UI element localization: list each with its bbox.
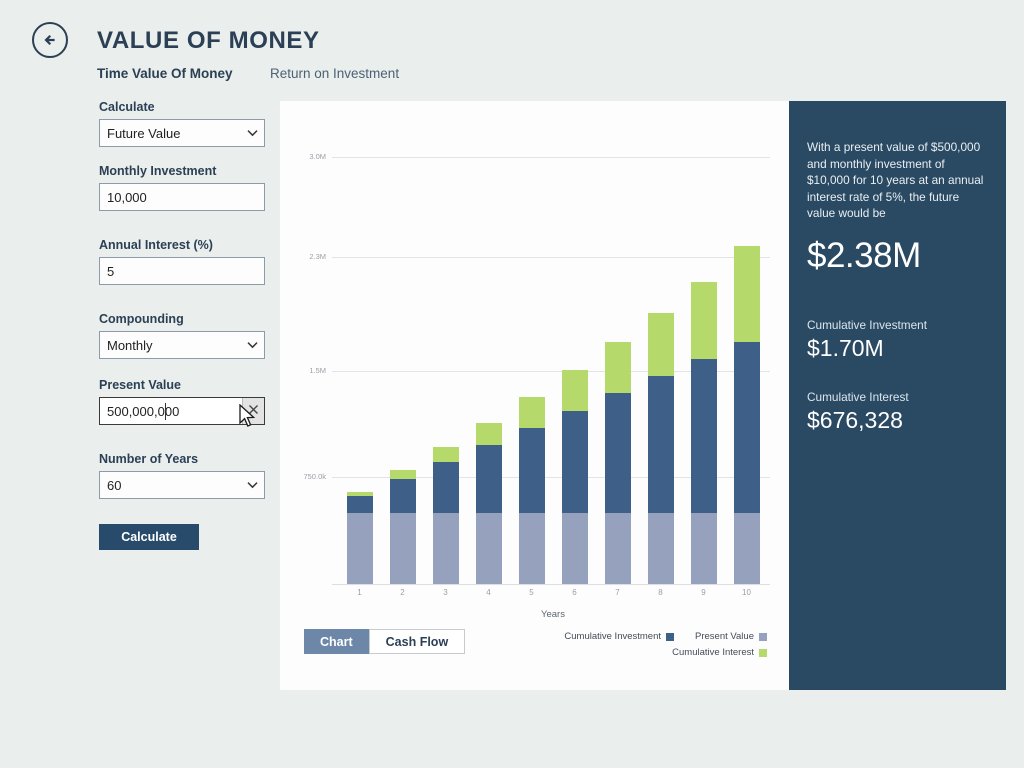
x-axis-tick-label: 4: [467, 588, 510, 597]
x-axis-tick-label: 1: [338, 588, 381, 597]
legend-label-cumulative-investment: Cumulative Investment: [564, 631, 661, 642]
x-axis-tick-label: 7: [596, 588, 639, 597]
app-header: VALUE OF MONEY Time Value Of Money Retur…: [0, 0, 1024, 100]
mouse-cursor: [238, 404, 258, 435]
bar-segment-present-value: [605, 513, 631, 584]
label-annual-interest: Annual Interest (%): [99, 238, 265, 252]
legend-row-bottom: Cumulative Interest: [467, 647, 767, 658]
chevron-down-icon: [242, 332, 262, 358]
chart-x-axis-title: Years: [338, 609, 768, 620]
bar-column[interactable]: [639, 129, 682, 584]
compounding-select[interactable]: Monthly: [99, 331, 265, 359]
text-caret: [165, 403, 166, 420]
bar-segment-cumulative-investment: [691, 359, 717, 513]
bar-column[interactable]: [381, 129, 424, 584]
bar-segment-cumulative-interest: [562, 370, 588, 410]
tab-time-value-of-money[interactable]: Time Value Of Money: [97, 66, 233, 81]
annual-interest-input-wrap[interactable]: 5: [99, 257, 265, 285]
bar-segment-present-value: [562, 513, 588, 584]
label-monthly-investment: Monthly Investment: [99, 164, 265, 178]
bar-segment-present-value: [691, 513, 717, 584]
x-axis-tick-label: 5: [510, 588, 553, 597]
calculate-button[interactable]: Calculate: [99, 524, 199, 550]
legend-swatch-cumulative-interest: [759, 649, 767, 657]
bar-column[interactable]: [553, 129, 596, 584]
bar-segment-present-value: [433, 513, 459, 584]
field-compounding: Compounding Monthly: [99, 312, 265, 359]
monthly-investment-input[interactable]: 10,000: [100, 190, 264, 205]
cumulative-investment-amount: $1.70M: [807, 335, 988, 362]
y-axis-tick-label: 3.0M: [280, 152, 326, 161]
legend-swatch-cumulative-investment: [666, 633, 674, 641]
bar-segment-cumulative-investment: [390, 479, 416, 513]
x-axis-tick-label: 8: [639, 588, 682, 597]
number-of-years-select[interactable]: 60: [99, 471, 265, 499]
tab-return-on-investment[interactable]: Return on Investment: [270, 66, 399, 81]
chart-plot-area: 750.0k1.5M2.3M3.0M 12345678910 Years: [280, 101, 789, 611]
bar-segment-cumulative-interest: [390, 470, 416, 479]
bar-segment-cumulative-interest: [476, 423, 502, 445]
legend-row-top: Cumulative Investment Present Value: [467, 631, 767, 642]
bar-column[interactable]: [510, 129, 553, 584]
top-tab-bar: Time Value Of Money Return on Investment: [97, 66, 399, 84]
bar-segment-cumulative-investment: [519, 428, 545, 513]
legend-item-cumulative-investment[interactable]: Cumulative Investment: [564, 631, 674, 642]
legend-label-present-value: Present Value: [695, 631, 754, 642]
bar-segment-present-value: [519, 513, 545, 584]
y-axis-tick-label: 1.5M: [280, 366, 326, 375]
calculator-form: Calculate Future Value Monthly Investmen…: [99, 100, 279, 690]
legend-item-cumulative-interest[interactable]: Cumulative Interest: [672, 647, 767, 658]
chart-bars: [338, 129, 768, 584]
cumulative-interest-label: Cumulative Interest: [807, 390, 988, 404]
bar-column[interactable]: [682, 129, 725, 584]
legend-item-present-value[interactable]: Present Value: [695, 631, 767, 642]
calculate-select[interactable]: Future Value: [99, 119, 265, 147]
bar-segment-cumulative-interest: [734, 246, 760, 342]
bar-column[interactable]: [424, 129, 467, 584]
bar-segment-cumulative-investment: [347, 496, 373, 513]
x-axis-tick-label: 9: [682, 588, 725, 597]
bar-segment-cumulative-interest: [433, 447, 459, 462]
page-title: VALUE OF MONEY: [97, 27, 320, 55]
y-axis-tick-label: 2.3M: [280, 252, 326, 261]
chevron-down-icon: [242, 472, 262, 498]
compounding-select-value: Monthly: [100, 338, 242, 353]
calculate-select-value: Future Value: [100, 126, 242, 141]
bar-segment-cumulative-interest: [648, 313, 674, 377]
label-present-value: Present Value: [99, 378, 265, 392]
field-number-of-years: Number of Years 60: [99, 452, 265, 499]
bar-segment-present-value: [476, 513, 502, 584]
bar-segment-present-value: [347, 513, 373, 584]
field-calculate: Calculate Future Value: [99, 100, 265, 147]
legend-label-cumulative-interest: Cumulative Interest: [672, 647, 754, 658]
arrow-left-circle-icon: [40, 30, 60, 50]
x-axis-tick-label: 6: [553, 588, 596, 597]
present-value-input[interactable]: 500,000,000: [100, 404, 242, 419]
bar-segment-cumulative-investment: [433, 462, 459, 513]
bar-segment-cumulative-investment: [648, 376, 674, 513]
bar-column[interactable]: [338, 129, 381, 584]
future-value-amount: $2.38M: [807, 236, 988, 276]
chart-x-axis-line: [332, 584, 770, 585]
chevron-down-icon: [242, 120, 262, 146]
bar-segment-cumulative-investment: [476, 445, 502, 513]
bar-segment-present-value: [648, 513, 674, 584]
bar-segment-cumulative-investment: [734, 342, 760, 513]
field-annual-interest: Annual Interest (%) 5: [99, 238, 265, 285]
legend-swatch-present-value: [759, 633, 767, 641]
annual-interest-input[interactable]: 5: [100, 264, 264, 279]
chart-panel: 750.0k1.5M2.3M3.0M 12345678910 Years Cha…: [280, 101, 789, 690]
bar-segment-present-value: [390, 513, 416, 584]
cumulative-investment-label: Cumulative Investment: [807, 318, 988, 332]
bar-column[interactable]: [596, 129, 639, 584]
bar-column[interactable]: [467, 129, 510, 584]
bar-segment-cumulative-interest: [691, 282, 717, 359]
summary-panel: With a present value of $500,000 and mon…: [789, 101, 1006, 690]
bar-segment-cumulative-interest: [605, 342, 631, 393]
bar-segment-cumulative-investment: [562, 411, 588, 513]
y-axis-tick-label: 750.0k: [280, 472, 326, 481]
x-axis-tick-label: 10: [725, 588, 768, 597]
x-axis-tick-label: 3: [424, 588, 467, 597]
field-monthly-investment: Monthly Investment 10,000: [99, 164, 265, 211]
back-button[interactable]: [32, 22, 68, 58]
chart-legend: Cumulative Investment Present Value Cumu…: [467, 631, 767, 663]
chart-view-tabs: Chart Cash Flow: [304, 629, 465, 654]
tab-cash-flow[interactable]: Cash Flow: [369, 629, 466, 654]
cumulative-interest-amount: $676,328: [807, 407, 988, 434]
bar-column[interactable]: [725, 129, 768, 584]
bar-segment-present-value: [734, 513, 760, 584]
bar-segment-cumulative-interest: [519, 397, 545, 428]
label-calculate: Calculate: [99, 100, 265, 114]
x-axis-tick-label: 2: [381, 588, 424, 597]
bar-segment-cumulative-investment: [605, 393, 631, 512]
chart-x-axis-labels: 12345678910: [338, 588, 768, 597]
label-number-of-years: Number of Years: [99, 452, 265, 466]
tab-chart[interactable]: Chart: [304, 629, 369, 654]
number-of-years-select-value: 60: [100, 478, 242, 493]
monthly-investment-input-wrap[interactable]: 10,000: [99, 183, 265, 211]
summary-description: With a present value of $500,000 and mon…: [807, 139, 988, 222]
label-compounding: Compounding: [99, 312, 265, 326]
